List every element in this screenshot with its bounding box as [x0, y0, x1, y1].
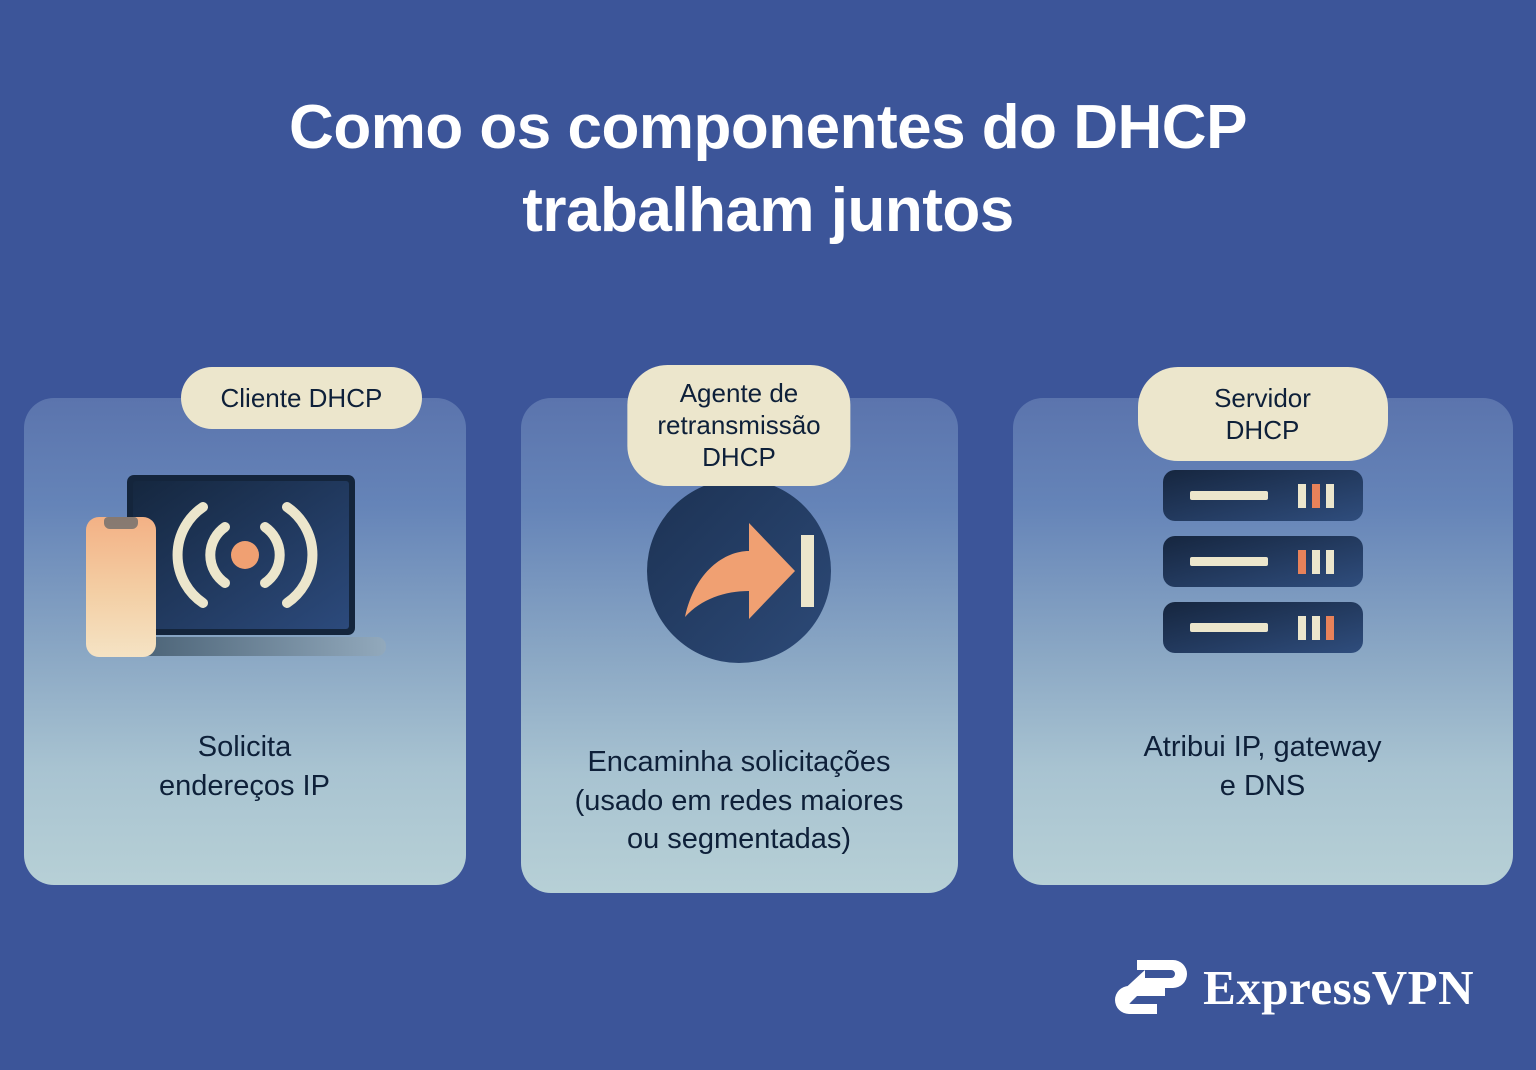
laptop-phone-wifi-icon — [24, 398, 466, 728]
caption-dhcp-relay-agent: Encaminha solicitações (usado em redes m… — [561, 743, 918, 859]
badge-dhcp-client: Cliente DHCP — [181, 367, 423, 429]
components-row: Cliente DHCP — [0, 398, 1536, 893]
page-title: Como os componentes do DHCP trabalham ju… — [0, 86, 1536, 252]
card-dhcp-relay-agent: Agente de retransmissão DHCP Encaminha s… — [521, 398, 958, 893]
caption-dhcp-server: Atribui IP, gateway e DNS — [1129, 728, 1395, 805]
badge-dhcp-relay-agent: Agente de retransmissão DHCP — [627, 365, 850, 486]
badge-dhcp-server: Servidor DHCP — [1138, 367, 1388, 461]
expressvpn-wordmark: ExpressVPN — [1203, 959, 1474, 1016]
expressvpn-e-mark-icon — [1115, 956, 1187, 1018]
card-dhcp-client: Cliente DHCP — [24, 398, 466, 885]
expressvpn-logo: ExpressVPN — [1115, 956, 1474, 1018]
card-dhcp-server: Servidor DHCP — [1013, 398, 1513, 885]
caption-dhcp-client: Solicita endereços IP — [145, 728, 344, 805]
